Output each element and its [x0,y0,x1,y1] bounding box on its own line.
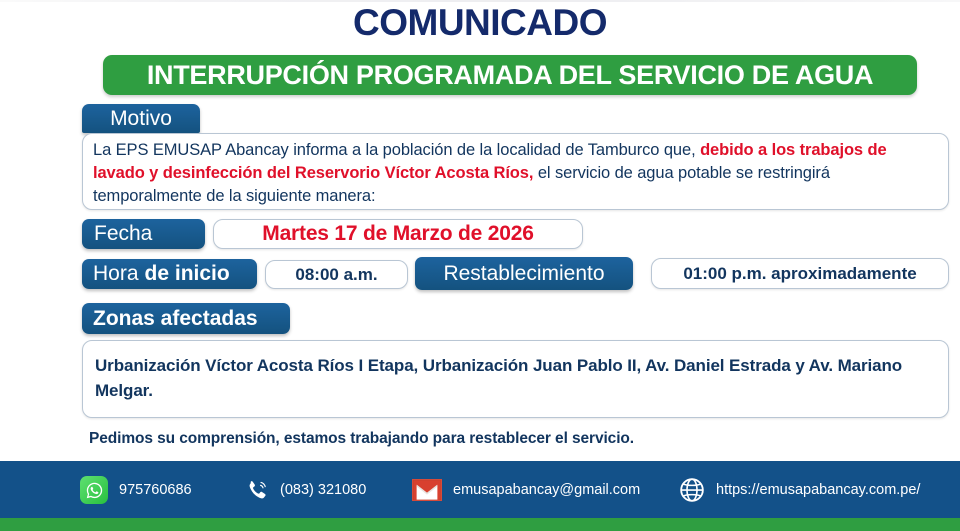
phone-icon [243,477,269,503]
label-fecha: Fecha [82,219,205,249]
hora-inicio-value: 08:00 a.m. [295,265,377,285]
whatsapp-icon [80,476,108,504]
contact-whatsapp[interactable]: 975760686 [80,475,192,505]
contact-phone[interactable]: (083) 321080 [243,475,366,505]
contact-email-value: emusapabancay@gmail.com [453,482,640,498]
contact-phone-value: (083) 321080 [280,482,366,498]
label-hora-text: Hora [93,262,139,286]
label-fecha-text: Fecha [94,222,152,246]
interruption-banner-label: INTERRUPCIÓN PROGRAMADA DEL SERVICIO DE … [147,60,873,91]
label-motivo-text: Motivo [110,107,172,131]
motivo-paragraph: La EPS EMUSAP Abancay informa a la pobla… [93,139,938,208]
zonas-paragraph: Urbanización Víctor Acosta Ríos I Etapa,… [95,353,936,403]
footer-green-strip [0,518,960,531]
gmail-icon [412,479,442,501]
comunicado-poster: COMUNICADO INTERRUPCIÓN PROGRAMADA DEL S… [0,0,960,531]
closing-note: Pedimos su comprensión, estamos trabajan… [89,430,634,448]
hora-inicio-value-box: 08:00 a.m. [265,260,408,289]
contact-whatsapp-value: 975760686 [119,482,192,498]
restablecimiento-value: 01:00 p.m. aproximadamente [683,264,916,284]
fecha-value-box: Martes 17 de Marzo de 2026 [213,219,583,249]
footer-bar: 975760686 (083) 321080 [0,461,960,518]
label-de-inicio-text: de inicio [145,262,230,286]
contact-email[interactable]: emusapabancay@gmail.com [412,475,640,505]
interruption-banner: INTERRUPCIÓN PROGRAMADA DEL SERVICIO DE … [103,55,917,95]
label-restablecimiento-text: Restablecimiento [443,262,604,286]
contact-website-value: https://emusapabancay.com.pe/ [716,482,920,498]
label-hora-inicio: Hora de inicio [82,259,257,289]
label-zonas-afectadas: Zonas afectadas [82,303,290,334]
globe-icon [678,477,705,504]
label-zonas-afectadas-text: Zonas afectadas [93,307,258,331]
label-motivo: Motivo [82,104,200,133]
restablecimiento-value-box: 01:00 p.m. aproximadamente [651,258,949,289]
motivo-content-box: La EPS EMUSAP Abancay informa a la pobla… [82,133,949,210]
contact-website[interactable]: https://emusapabancay.com.pe/ [678,475,920,505]
zonas-content-box: Urbanización Víctor Acosta Ríos I Etapa,… [82,340,949,418]
fecha-value: Martes 17 de Marzo de 2026 [262,222,533,246]
label-restablecimiento: Restablecimiento [415,257,633,290]
page-title: COMUNICADO [0,2,960,44]
motivo-text-part1: La EPS EMUSAP Abancay informa a la pobla… [93,141,700,159]
